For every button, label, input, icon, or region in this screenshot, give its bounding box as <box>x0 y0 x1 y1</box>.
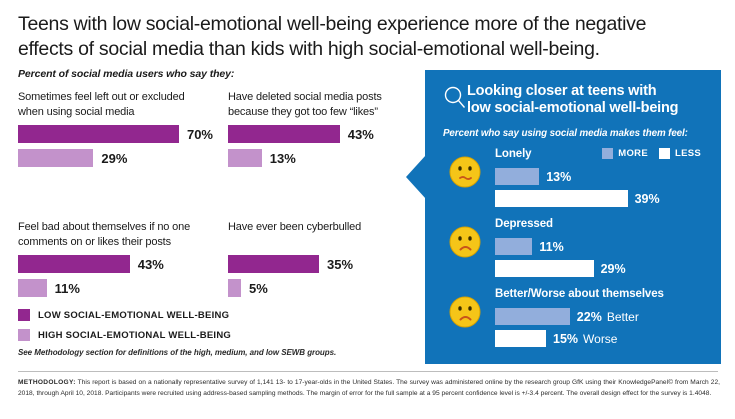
blue-bar-row: 11% <box>495 237 705 256</box>
stat-label-line-1: Have deleted social media posts <box>228 90 423 105</box>
blue-callout-panel: Looking closer at teens with low social-… <box>425 70 721 364</box>
bar-less <box>495 330 546 347</box>
infographic-page: Teens with low social-emotional well-bei… <box>0 0 735 419</box>
magnifier-icon <box>443 85 467 111</box>
blue-stat-body: Better/Worse about themselves22%Better15… <box>495 288 705 348</box>
methodology-label: METHODOLOGY: <box>18 379 76 386</box>
stat-label-line-2: comments on or likes their posts <box>18 235 213 250</box>
bar-value: 70% <box>187 127 213 142</box>
stat-label-line-1: Have ever been cyberbulled <box>228 220 423 235</box>
legend-label-high: HIGH SOCIAL-EMOTIONAL WELL-BEING <box>38 330 231 341</box>
stat-label: Have deleted social media postsbecause t… <box>228 90 423 120</box>
headline-line-1: Teens with low social-emotional well-bei… <box>18 12 718 37</box>
stat-bar-row: 11% <box>18 278 213 298</box>
stat-bar-row: 43% <box>18 254 213 274</box>
bar-value: 11% <box>55 281 80 296</box>
bar-high-sewb <box>18 149 93 167</box>
stat-label-line-1: Sometimes feel left out or excluded <box>18 90 213 105</box>
stat-bar-row: 70% <box>18 124 213 144</box>
bar-value: 29% <box>101 151 127 166</box>
left-panel-kicker: Percent of social media users who say th… <box>18 68 418 80</box>
blue-bar-row: 29% <box>495 259 705 278</box>
stat-bar-row: 13% <box>228 148 423 168</box>
legend-item-high-sewb: HIGH SOCIAL-EMOTIONAL WELL-BEING <box>18 327 348 343</box>
stat-block: Have ever been cyberbulled35%5% <box>228 220 423 298</box>
blue-stat-group: Depressed11%29% <box>443 218 705 278</box>
blue-stat-label: Better/Worse about themselves <box>495 288 705 304</box>
blue-stat-group: Better/Worse about themselves22%Better15… <box>443 288 705 348</box>
bar-low-sewb <box>18 125 179 143</box>
blue-stat-label: Lonely <box>495 148 705 164</box>
bar-high-sewb <box>228 149 262 167</box>
stat-label-line-2: because they got too few “likes” <box>228 105 423 120</box>
bar-high-sewb <box>228 279 241 297</box>
frowning-face-icon <box>449 296 481 328</box>
callout-arrow-icon <box>406 155 426 199</box>
blue-stat-body: Lonely13%39% <box>495 148 705 208</box>
blue-title-line-2: low social-emotional well-being <box>467 100 678 117</box>
stat-label: Sometimes feel left out or excludedwhen … <box>18 90 213 120</box>
bar-low-sewb <box>228 125 340 143</box>
bar-more <box>495 238 532 255</box>
bar-high-sewb <box>18 279 47 297</box>
blue-panel-title: Looking closer at teens with low social-… <box>467 83 678 117</box>
stat-block: Feel bad about themselves if no onecomme… <box>18 220 213 298</box>
headline-line-2: effects of social media than kids with h… <box>18 37 718 62</box>
methodology-note: METHODOLOGY: This report is based on a n… <box>18 377 720 400</box>
legend-item-low-sewb: LOW SOCIAL-EMOTIONAL WELL-BEING <box>18 307 348 323</box>
blue-bar-value: 15% <box>553 332 578 346</box>
blue-title-line-1: Looking closer at teens with <box>467 83 678 100</box>
methodology-text: This report is based on a nationally rep… <box>18 379 720 397</box>
bar-value: 5% <box>249 281 268 296</box>
bar-value: 43% <box>138 257 164 272</box>
methodology-divider <box>18 371 718 372</box>
stat-label-line-2: when using social media <box>18 105 213 120</box>
blue-bar-value: 29% <box>601 262 626 276</box>
blue-bar-value: 13% <box>546 170 571 184</box>
blue-stat-group: Lonely13%39% <box>443 148 705 208</box>
stat-bar-row: 5% <box>228 278 423 298</box>
confused-face-icon <box>449 156 481 188</box>
stat-label: Have ever been cyberbulled <box>228 220 423 250</box>
legend-footnote: See Methodology section for definitions … <box>18 348 348 357</box>
legend-label-low: LOW SOCIAL-EMOTIONAL WELL-BEING <box>38 310 229 321</box>
blue-bar-value: 11% <box>539 240 563 254</box>
blue-bar-value: 39% <box>635 192 660 206</box>
blue-bar-value: 22% <box>577 310 602 324</box>
blue-stat-body: Depressed11%29% <box>495 218 705 278</box>
page-title: Teens with low social-emotional well-bei… <box>18 12 718 62</box>
blue-stat-label: Depressed <box>495 218 705 234</box>
stat-block: Sometimes feel left out or excludedwhen … <box>18 90 213 168</box>
stat-bar-row: 43% <box>228 124 423 144</box>
legend-swatch-low-icon <box>18 309 30 321</box>
bar-low-sewb <box>228 255 319 273</box>
blue-bar-row: 22%Better <box>495 307 705 326</box>
legend-swatch-high-icon <box>18 329 30 341</box>
bar-low-sewb <box>18 255 130 273</box>
left-legend: LOW SOCIAL-EMOTIONAL WELL-BEING HIGH SOC… <box>18 307 348 357</box>
bar-more <box>495 168 539 185</box>
stat-block: Have deleted social media postsbecause t… <box>228 90 423 168</box>
blue-bar-row: 15%Worse <box>495 329 705 348</box>
stat-bar-row: 35% <box>228 254 423 274</box>
bar-value: 35% <box>327 257 353 272</box>
blue-panel-kicker: Percent who say using social media makes… <box>443 128 688 139</box>
blue-bar-suffix: Better <box>607 310 639 324</box>
stat-label: Feel bad about themselves if no onecomme… <box>18 220 213 250</box>
stat-bar-row: 29% <box>18 148 213 168</box>
blue-bar-row: 39% <box>495 189 705 208</box>
blue-bar-suffix: Worse <box>583 332 617 346</box>
frowning-face-icon <box>449 226 481 258</box>
stat-label-line-1: Feel bad about themselves if no one <box>18 220 213 235</box>
blue-bar-row: 13% <box>495 167 705 186</box>
bar-less <box>495 260 594 277</box>
bar-more <box>495 308 570 325</box>
bar-less <box>495 190 628 207</box>
bar-value: 13% <box>270 151 296 166</box>
bar-value: 43% <box>348 127 374 142</box>
blue-panel-header: Looking closer at teens with low social-… <box>443 83 708 117</box>
